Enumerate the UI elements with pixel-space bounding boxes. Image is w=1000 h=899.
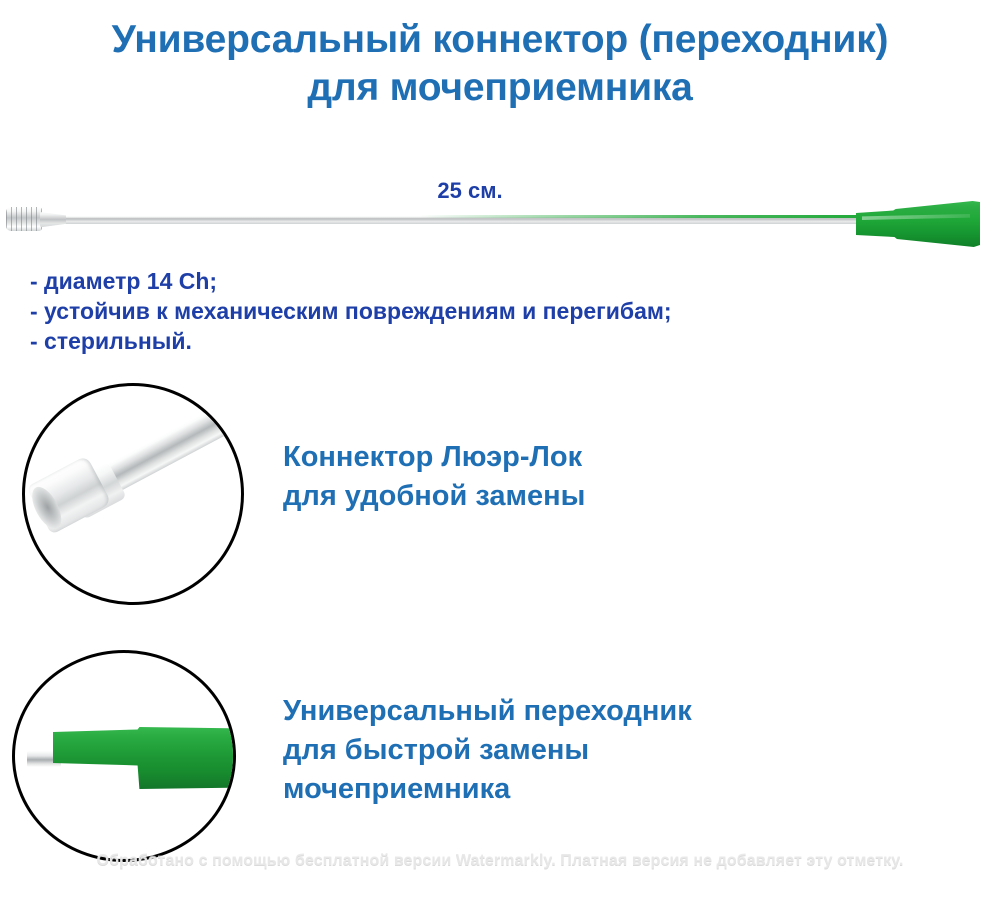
product-infographic: Универсальный коннектор (переходник) для… bbox=[0, 0, 1000, 899]
callout-luer-lock-text: Коннектор Люэр-Лок для удобной замены bbox=[283, 438, 585, 516]
green-adapter-closeup-icon bbox=[12, 650, 236, 862]
luer-lock-closeup-icon bbox=[22, 383, 244, 605]
feature-item: - диаметр 14 Ch; bbox=[30, 266, 672, 296]
callout-line: для удобной замены bbox=[283, 477, 585, 516]
callout-line: Универсальный переходник bbox=[283, 692, 692, 731]
green-adapter-body bbox=[856, 199, 980, 249]
green-stripe bbox=[420, 215, 872, 218]
title-line-1: Универсальный коннектор (переходник) bbox=[0, 16, 1000, 64]
callout-line: для быстрой замены bbox=[283, 731, 692, 770]
feature-list: - диаметр 14 Ch; - устойчив к механическ… bbox=[30, 266, 672, 356]
luer-lock-neck bbox=[40, 211, 66, 228]
green-universal-adapter-icon bbox=[856, 199, 980, 249]
watermark-notice: Обработано с помощью бесплатной версии W… bbox=[0, 852, 1000, 870]
product-photo bbox=[0, 195, 1000, 255]
luer-lock-connector-icon bbox=[6, 207, 42, 231]
feature-item: - устойчив к механическим повреждениям и… bbox=[30, 296, 672, 326]
title-line-2: для мочеприемника bbox=[0, 64, 1000, 112]
callout-line: мочеприемника bbox=[283, 770, 692, 809]
callout-universal-adapter-text: Универсальный переходник для быстрой зам… bbox=[283, 692, 692, 809]
page-title: Универсальный коннектор (переходник) для… bbox=[0, 16, 1000, 112]
closeup-green-adapter bbox=[53, 727, 233, 789]
callout-line: Коннектор Люэр-Лок bbox=[283, 438, 585, 477]
feature-item: - стерильный. bbox=[30, 326, 672, 356]
